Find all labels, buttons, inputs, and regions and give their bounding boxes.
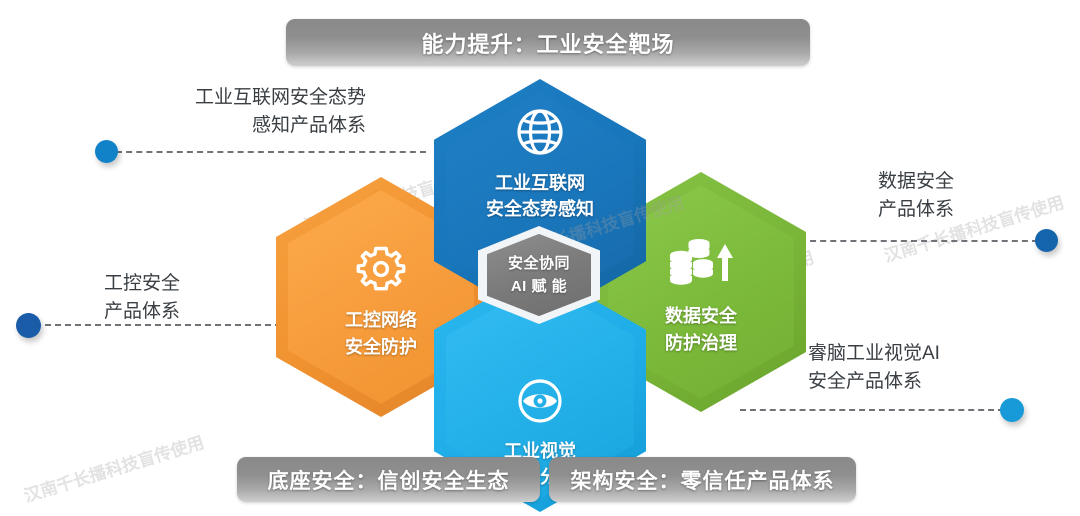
side-label-vision: 睿脑工业视觉AI 安全产品体系 — [808, 340, 1038, 395]
hexagon-label-line2: 安全态势感知 — [486, 196, 594, 222]
hexagon-label-line1: 工业互联网 — [495, 170, 585, 196]
connector-line-data — [800, 240, 1038, 242]
hexagon-core-ai-enablement[interactable]: 安全协同 AI 赋 能 — [478, 226, 600, 324]
connector-dot-vision — [1000, 398, 1024, 422]
core-label-line1: 安全协同 — [508, 252, 570, 275]
side-label-ics: 工控安全 产品体系 — [104, 270, 304, 325]
gear-icon — [354, 242, 408, 301]
banner-foundation-security: 底座安全：信创安全生态 — [237, 457, 540, 502]
hexagon-label-line2: 防护治理 — [665, 330, 737, 356]
watermark: 汉南千长播科技盲传使用 — [20, 428, 206, 507]
hexagon-label-line2: 安全防护 — [345, 334, 417, 360]
connector-dot-ics — [16, 313, 41, 338]
data-growth-icon — [668, 236, 734, 297]
banner-capability-top: 能力提升：工业安全靶场 — [286, 19, 810, 66]
eye-icon — [514, 375, 566, 432]
side-label-data: 数据安全 产品体系 — [878, 168, 1078, 223]
side-label-iiot: 工业互联网安全态势 感知产品体系 — [134, 84, 366, 139]
connector-dot-iiot — [95, 140, 118, 163]
hexagon-content: 安全协同 AI 赋 能 — [478, 226, 600, 324]
hexagon-label-line1: 数据安全 — [665, 303, 737, 329]
globe-icon — [513, 105, 567, 164]
banner-architecture-security: 架构安全：零信任产品体系 — [549, 457, 856, 502]
connector-line-iiot — [116, 151, 426, 153]
diagram-canvas: 汉南千长播科技盲传使用 汉南千长播科技盲传使用 汉南千长播科技盲传使用 汉南千长… — [0, 0, 1080, 516]
core-label-line2: AI 赋 能 — [511, 275, 567, 298]
connector-dot-data — [1035, 229, 1058, 252]
hexagon-label-line1: 工控网络 — [345, 307, 417, 333]
